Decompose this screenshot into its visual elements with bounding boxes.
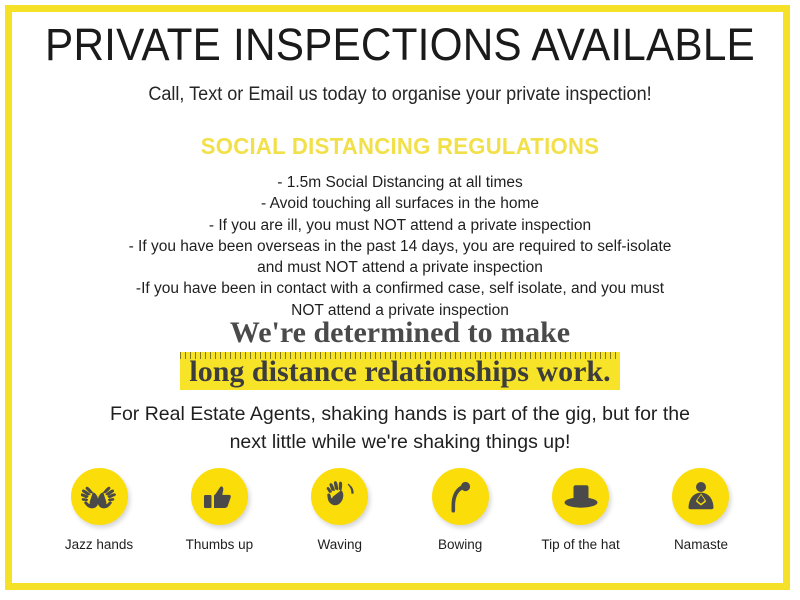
rule-line: - Avoid touching all surfaces in the hom…: [0, 193, 800, 214]
greeting-label: Thumbs up: [160, 536, 278, 553]
greeting-item-namaste: Namaste: [642, 468, 760, 553]
greeting-circle: [672, 468, 729, 525]
rules-list: - 1.5m Social Distancing at all times - …: [0, 172, 800, 321]
greeting-item-waving: Waving: [281, 468, 399, 553]
rule-line: - 1.5m Social Distancing at all times: [0, 172, 800, 193]
greeting-label: Jazz hands: [40, 536, 158, 553]
greeting-label: Bowing: [401, 536, 519, 553]
greeting-circle: [71, 468, 128, 525]
rule-line: - If you are ill, you must NOT attend a …: [0, 215, 800, 236]
bowing-person-icon: [446, 481, 474, 513]
slogan-line-1: We're determined to make: [0, 316, 800, 350]
closing-line: For Real Estate Agents, shaking hands is…: [0, 400, 800, 428]
slogan-line-2-highlighted: long distance relationships work.: [180, 352, 619, 390]
greeting-label: Tip of the hat: [522, 536, 640, 553]
top-hat-icon: [563, 483, 599, 511]
greeting-circle: [432, 468, 489, 525]
greeting-item-thumbs-up: Thumbs up: [160, 468, 278, 553]
greeting-label: Waving: [281, 536, 399, 553]
thumbs-up-icon: [203, 482, 235, 512]
poster-content: PRIVATE INSPECTIONS AVAILABLE Call, Text…: [0, 0, 800, 600]
closing-line: next little while we're shaking things u…: [0, 428, 800, 456]
greeting-circle: [311, 468, 368, 525]
greeting-circle: [191, 468, 248, 525]
rule-line: - If you have been overseas in the past …: [0, 236, 800, 257]
slogan-highlight-wrap: long distance relationships work.: [180, 352, 619, 390]
section-heading-social-distancing: SOCIAL DISTANCING REGULATIONS: [16, 132, 784, 160]
greeting-item-tip-of-the-hat: Tip of the hat: [522, 468, 640, 553]
closing-message: For Real Estate Agents, shaking hands is…: [0, 400, 800, 456]
rule-line: and must NOT attend a private inspection: [0, 257, 800, 278]
page-title: PRIVATE INSPECTIONS AVAILABLE: [24, 19, 776, 71]
greeting-label: Namaste: [642, 536, 760, 553]
waving-hand-icon: [324, 481, 356, 512]
greeting-icon-row: Jazz hands Thumbs up: [40, 468, 760, 568]
slogan: We're determined to make long distance r…: [0, 316, 800, 390]
jazz-hands-icon: [81, 482, 117, 512]
greeting-item-jazz-hands: Jazz hands: [40, 468, 158, 553]
rule-line: -If you have been in contact with a conf…: [0, 278, 800, 299]
namaste-icon: [685, 481, 717, 512]
subtitle: Call, Text or Email us today to organise…: [20, 83, 780, 107]
greeting-circle: [552, 468, 609, 525]
poster: PRIVATE INSPECTIONS AVAILABLE Call, Text…: [0, 0, 800, 600]
greeting-item-bowing: Bowing: [401, 468, 519, 553]
